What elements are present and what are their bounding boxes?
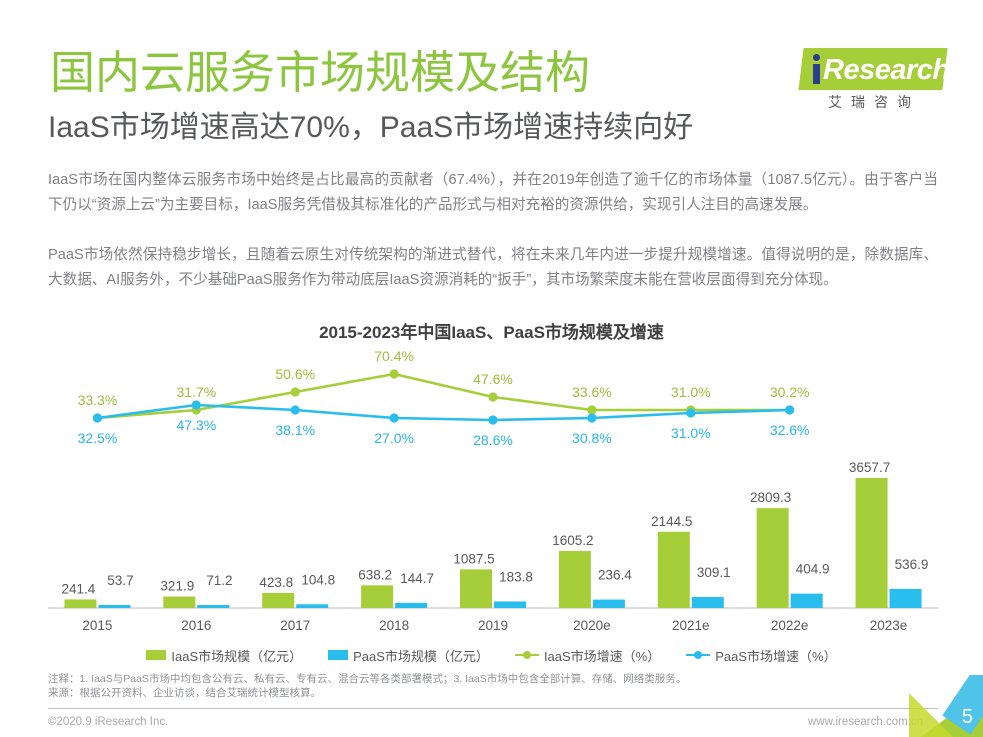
body-paragraph-2: PaaS市场依然保持稳步增长，且随着云原生对传统架构的渐进式替代，将在未来几年内…	[48, 243, 938, 293]
chart-text: 27.0%	[374, 430, 414, 446]
chart-text: 30.8%	[572, 430, 612, 446]
logo-chinese-name: 艾瑞咨询	[801, 92, 947, 112]
page-title: 国内云服务市场规模及结构	[50, 44, 590, 102]
legend-label: PaaS市场增速（%）	[715, 646, 836, 665]
bar-iaas	[361, 585, 393, 608]
chart-text: 2144.5	[651, 514, 692, 529]
marker-paas-growth	[488, 415, 497, 424]
bar-iaas	[757, 508, 789, 608]
chart-text: 31.7%	[176, 384, 216, 400]
bar-paas	[494, 601, 526, 608]
chart-text: 241.4	[62, 581, 96, 596]
iresearch-logo: Research 艾瑞咨询	[793, 48, 945, 110]
marker-paas-growth	[192, 400, 201, 409]
marker-paas-growth	[93, 413, 102, 422]
note-line-2: 来源：根据公开资料、企业访谈，结合艾瑞统计模型核算。	[48, 686, 808, 700]
chart-text: 70.4%	[374, 350, 414, 364]
bar-paas	[791, 594, 823, 608]
page-number: 5	[962, 706, 973, 729]
bar-paas	[197, 605, 229, 608]
footer-website: www.iresearch.com.cn	[808, 716, 923, 728]
x-axis-tick: 2015	[57, 618, 137, 633]
chart-text: 104.8	[301, 572, 335, 587]
chart-text: 31.0%	[671, 425, 711, 441]
chart-text: 28.6%	[473, 432, 513, 448]
x-axis-tick: 2021e	[651, 618, 731, 633]
chart-text: 236.4	[598, 568, 632, 583]
marker-iaas-growth	[291, 387, 300, 396]
chart-text: 3657.7	[849, 460, 890, 475]
x-axis-tick: 2017	[255, 618, 335, 633]
chart-svg: 241.453.7321.971.2423.8104.8638.2144.710…	[48, 350, 938, 615]
bar-paas	[98, 605, 130, 608]
legend-item[interactable]: IaaS市场增速（%）	[515, 646, 660, 665]
x-axis-tick: 2019	[453, 618, 533, 633]
note-line-1: 注释：1. IaaS与PaaS市场中均包含公有云、私有云、专有云、混合云等各类部…	[48, 672, 808, 686]
legend-item[interactable]: PaaS市场增速（%）	[686, 646, 836, 665]
corner-decoration: 5	[908, 675, 983, 737]
page-subtitle: IaaS市场增速高达70%，PaaS市场增速持续向好	[48, 108, 693, 148]
x-axis-tick: 2018	[354, 618, 434, 633]
footer-divider	[48, 708, 938, 709]
legend-label: IaaS市场增速（%）	[544, 646, 660, 665]
marker-paas-growth	[686, 408, 695, 417]
bar-iaas	[64, 599, 96, 608]
marker-iaas-growth	[488, 392, 497, 401]
chart-title: 2015-2023年中国IaaS、PaaS市场规模及增速	[0, 318, 983, 343]
logo-wordmark: Research	[823, 53, 950, 87]
body-paragraph-1: IaaS市场在国内整体云服务市场中始终是占比最高的贡献者（67.4%），并在20…	[48, 168, 938, 218]
footer-copyright: ©2020.9 iResearch Inc.	[48, 716, 168, 728]
chart-text: 1605.2	[552, 533, 593, 548]
bar-iaas	[658, 532, 690, 608]
chart-text: 404.9	[796, 562, 830, 577]
logo-i-stem-icon	[813, 64, 820, 84]
chart-text: 32.5%	[78, 430, 118, 446]
chart-text: 50.6%	[275, 366, 315, 382]
legend-label: IaaS市场规模（亿元）	[171, 646, 302, 665]
chart-text: 183.8	[499, 569, 533, 584]
chart-text: 71.2	[206, 573, 232, 588]
marker-iaas-growth	[390, 369, 399, 378]
chart-text: 32.6%	[770, 422, 810, 438]
chart-text: 33.3%	[78, 392, 118, 408]
chart-text: 53.7	[107, 573, 133, 588]
chart-text: 31.0%	[671, 384, 711, 400]
chart-text: 33.6%	[572, 384, 612, 400]
marker-paas-growth	[587, 413, 596, 422]
x-axis-tick: 2022e	[750, 618, 830, 633]
chart-text: 321.9	[160, 579, 194, 594]
bar-paas	[296, 604, 328, 608]
chart-text: 30.2%	[770, 384, 810, 400]
chart-text: 423.8	[259, 575, 293, 590]
bar-paas	[395, 603, 427, 608]
chart-text: 2809.3	[750, 490, 791, 505]
legend-item[interactable]: PaaS市场规模（亿元）	[328, 646, 489, 665]
bar-paas	[692, 597, 724, 608]
chart-text: 38.1%	[275, 422, 315, 438]
chart-area: 241.453.7321.971.2423.8104.8638.2144.710…	[48, 350, 938, 615]
x-axis-labels: 201520162017201820192020e2021e2022e2023e	[48, 618, 938, 638]
legend-swatch-bar	[328, 650, 348, 660]
legend-swatch-line	[686, 650, 710, 660]
bar-paas	[593, 600, 625, 608]
bar-iaas	[163, 597, 195, 608]
bar-iaas	[460, 569, 492, 608]
marker-paas-growth	[785, 405, 794, 414]
x-axis-tick: 2023e	[849, 618, 929, 633]
chart-text: 47.6%	[473, 371, 513, 387]
bar-iaas	[559, 551, 591, 608]
slide-page: 国内云服务市场规模及结构 IaaS市场增速高达70%，PaaS市场增速持续向好 …	[0, 0, 983, 737]
bar-iaas	[856, 478, 888, 608]
marker-iaas-growth	[587, 405, 596, 414]
legend-item[interactable]: IaaS市场规模（亿元）	[146, 646, 302, 665]
marker-paas-growth	[291, 405, 300, 414]
x-axis-tick: 2016	[156, 618, 236, 633]
chart-notes: 注释：1. IaaS与PaaS市场中均包含公有云、私有云、专有云、混合云等各类部…	[48, 672, 808, 700]
legend-swatch-line	[515, 650, 539, 660]
legend-swatch-bar	[146, 650, 166, 660]
chart-text: 638.2	[358, 567, 392, 582]
chart-legend: IaaS市场规模（亿元）PaaS市场规模（亿元）IaaS市场增速（%）PaaS市…	[0, 645, 983, 665]
bar-paas	[890, 589, 922, 608]
marker-paas-growth	[390, 413, 399, 422]
bar-iaas	[262, 593, 294, 608]
chart-text: 536.9	[895, 557, 929, 572]
chart-text: 47.3%	[176, 417, 216, 433]
legend-label: PaaS市场规模（亿元）	[353, 646, 489, 665]
chart-text: 144.7	[400, 571, 434, 586]
chart-text: 309.1	[697, 565, 731, 580]
logo-i-dot-icon	[813, 54, 820, 61]
chart-text: 1087.5	[453, 551, 494, 566]
x-axis-tick: 2020e	[552, 618, 632, 633]
